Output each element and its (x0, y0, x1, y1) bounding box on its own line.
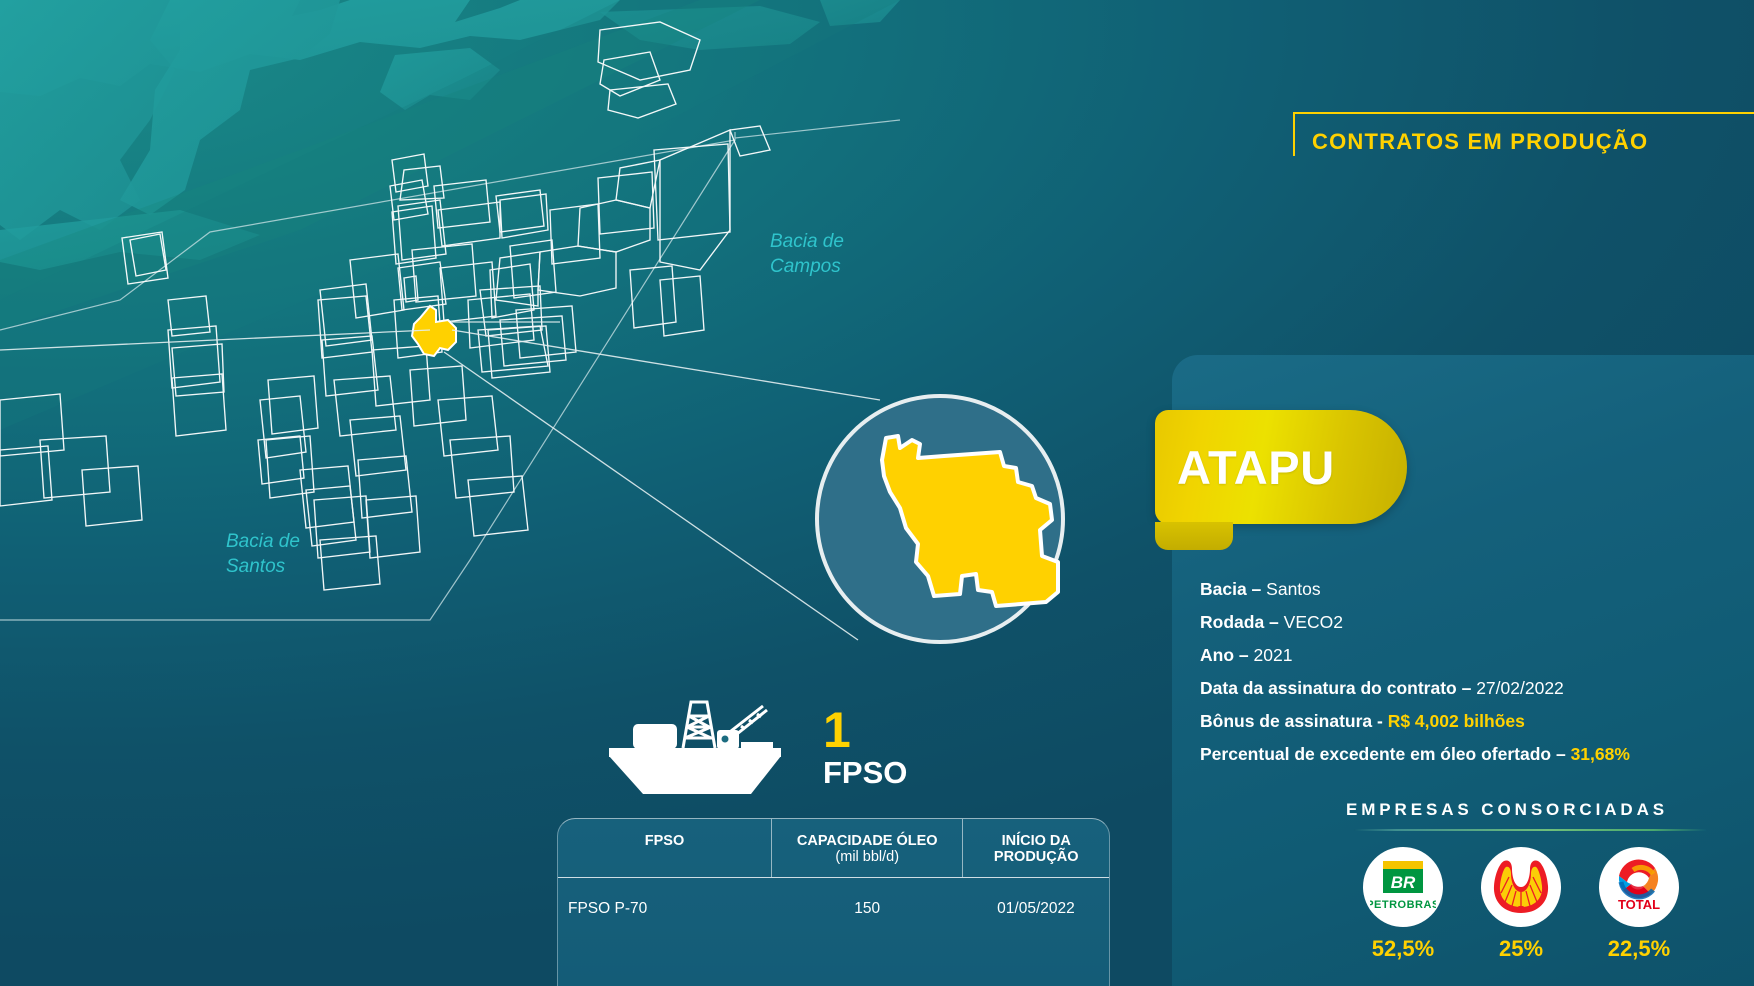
ribbon-fold-tab (1155, 522, 1233, 550)
detail-value: Santos (1266, 579, 1320, 599)
basin-label-santos-line1: Bacia de (226, 531, 300, 552)
atapu-inset-circle (817, 396, 1063, 642)
detail-label: Ano – (1200, 645, 1249, 665)
consortium-company-shell: 25% (1475, 847, 1567, 962)
company-share: 22,5% (1593, 936, 1685, 962)
detail-row-rodada: Rodada – VECO2 (1200, 606, 1754, 639)
detail-value: 27/02/2022 (1476, 678, 1564, 698)
detail-row-bonus: Bônus de assinatura - R$ 4,002 bilhões (1200, 705, 1754, 738)
block-details-list: Bacia – Santos Rodada – VECO2 Ano – 2021… (1200, 573, 1754, 771)
total-logo-circle: TOTAL (1599, 847, 1679, 927)
cell-start-date: 01/05/2022 (963, 878, 1109, 941)
infographic-stage: Bacia de Campos Bacia de Santos CONTRATO… (0, 0, 1754, 986)
consortium-company-petrobras: BR PETROBRAS 52,5% (1357, 847, 1449, 962)
column-header-capacity-title: CAPACIDADE ÓLEO (797, 833, 938, 849)
block-name-label: ATAPU (1155, 440, 1335, 495)
detail-value: R$ 4,002 bilhões (1388, 711, 1525, 731)
basin-label-campos-line1: Bacia de (770, 231, 844, 252)
detail-row-excedente: Percentual de excedente em óleo ofertado… (1200, 738, 1754, 771)
petrobras-logo: BR PETROBRAS (1370, 857, 1436, 917)
fpso-table-card: FPSO CAPACIDADE ÓLEO (mil bbl/d) INÍCIO … (557, 818, 1110, 986)
shell-logo (1490, 857, 1552, 917)
detail-label: Rodada – (1200, 612, 1279, 632)
column-header-start-line1: INÍCIO DA (1002, 833, 1071, 849)
shell-logo-circle (1481, 847, 1561, 927)
detail-label: Percentual de excedente em óleo ofertado… (1200, 744, 1566, 764)
column-header-start: INÍCIO DA PRODUÇÃO (963, 819, 1109, 878)
table-row: FPSO P-70 150 01/05/2022 (558, 878, 1109, 941)
section-header-title: CONTRATOS EM PRODUÇÃO (1295, 116, 1648, 155)
detail-row-ano: Ano – 2021 (1200, 639, 1754, 672)
detail-row-data-assinatura: Data da assinatura do contrato – 27/02/2… (1200, 672, 1754, 705)
cell-fpso-name: FPSO P-70 (558, 878, 772, 941)
section-header: CONTRATOS EM PRODUÇÃO (1293, 112, 1754, 156)
cell-capacity: 150 (772, 878, 963, 941)
ribbon-body: ATAPU (1155, 410, 1407, 524)
table-header-row: FPSO CAPACIDADE ÓLEO (mil bbl/d) INÍCIO … (558, 819, 1109, 878)
consortium-section: EMPRESAS CONSORCIADAS BR PETROBRAS 52,5% (1172, 800, 1754, 962)
company-share: 25% (1475, 936, 1567, 962)
block-name-ribbon: ATAPU (1155, 410, 1407, 524)
basin-label-santos-line2: Santos (226, 556, 286, 577)
fpso-summary: 1 FPSO (605, 700, 805, 805)
fpso-unit-label: FPSO (823, 757, 907, 788)
column-header-capacity-unit: (mil bbl/d) (782, 849, 952, 865)
svg-text:BR: BR (1391, 873, 1416, 892)
fpso-table: FPSO CAPACIDADE ÓLEO (mil bbl/d) INÍCIO … (558, 819, 1109, 940)
fpso-count: 1 (823, 705, 851, 755)
column-header-fpso: FPSO (558, 819, 772, 878)
fpso-vessel-icon (605, 700, 805, 800)
company-share: 52,5% (1357, 936, 1449, 962)
consortium-company-total: TOTAL 22,5% (1593, 847, 1685, 962)
detail-value: 31,68% (1571, 744, 1630, 764)
consortium-title: EMPRESAS CONSORCIADAS (1172, 800, 1754, 820)
svg-text:PETROBRAS: PETROBRAS (1370, 899, 1436, 911)
consortium-divider (1354, 829, 1706, 831)
column-header-capacity: CAPACIDADE ÓLEO (mil bbl/d) (772, 819, 963, 878)
detail-value: VECO2 (1284, 612, 1343, 632)
total-logo: TOTAL (1606, 857, 1672, 917)
basin-label-campos-line2: Campos (770, 256, 841, 277)
detail-value: 2021 (1254, 645, 1293, 665)
detail-label: Data da assinatura do contrato – (1200, 678, 1471, 698)
column-header-start-line2: PRODUÇÃO (973, 849, 1099, 865)
svg-text:TOTAL: TOTAL (1618, 897, 1660, 912)
petrobras-logo-circle: BR PETROBRAS (1363, 847, 1443, 927)
detail-label: Bacia – (1200, 579, 1261, 599)
detail-label: Bônus de assinatura - (1200, 711, 1383, 731)
detail-row-bacia: Bacia – Santos (1200, 573, 1754, 606)
consortium-logos: BR PETROBRAS 52,5% (1357, 847, 1754, 962)
